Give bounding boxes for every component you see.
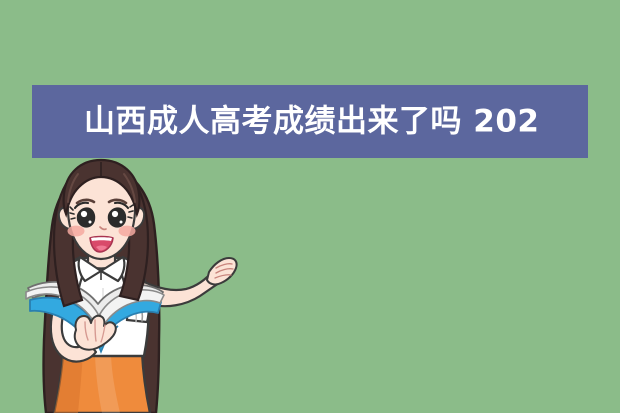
blush-left bbox=[68, 226, 85, 237]
hand-extended bbox=[207, 258, 237, 284]
cover-image: 山西成人高考成绩出来了吗 202 bbox=[0, 0, 620, 413]
page-title: 山西成人高考成绩出来了吗 202 bbox=[84, 106, 540, 137]
blush-right bbox=[119, 226, 136, 237]
title-banner: 山西成人高考成绩出来了吗 202 bbox=[32, 85, 588, 158]
student-illustration bbox=[0, 0, 620, 413]
